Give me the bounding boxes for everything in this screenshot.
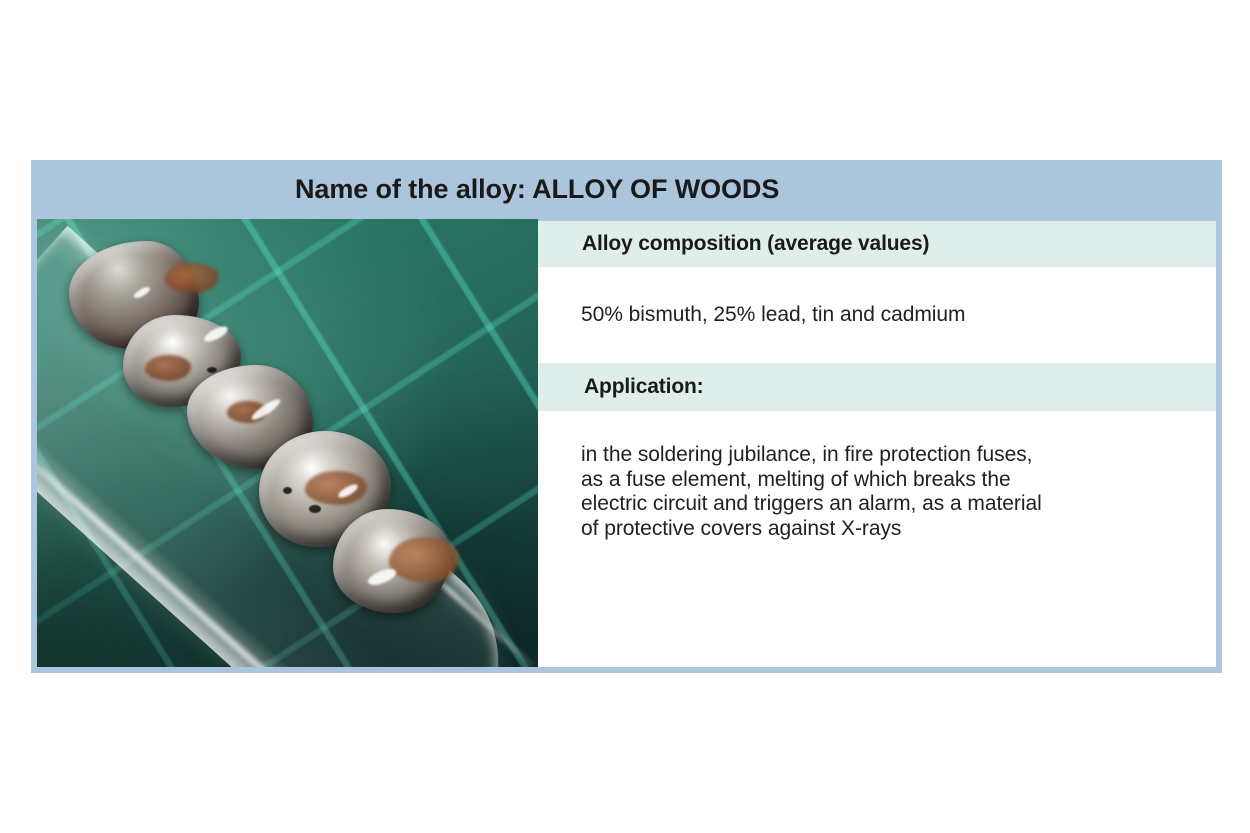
composition-heading: Alloy composition (average values) [538,232,929,256]
card-header: Name of the alloy: ALLOY OF WOODS [31,160,1222,219]
oxidised-patch-3 [305,471,367,505]
dark-cavity-2 [309,505,321,513]
composition-body-band: 50% bismuth, 25% lead, tin and cadmium [538,267,1216,363]
application-body: in the soldering jubilance, in fire prot… [538,411,1042,541]
composition-body: 50% bismuth, 25% lead, tin and cadmium [538,303,965,327]
application-body-line-1: in the soldering jubilance, in fire prot… [581,443,1042,468]
dark-cavity-1 [283,487,292,494]
dark-cavity-3 [207,367,217,373]
info-text-column: Alloy composition (average values) 50% b… [538,219,1216,667]
alloy-info-card: Name of the alloy: ALLOY OF WOODS [31,160,1222,673]
oxidised-patch-1 [165,263,219,293]
application-body-line-4: of protective covers against X-rays [581,517,1042,542]
application-heading-band: Application: [538,363,1216,411]
page-title: Name of the alloy: ALLOY OF WOODS [31,174,779,205]
application-body-line-3: electric circuit and triggers an alarm, … [581,492,1042,517]
application-body-band: in the soldering jubilance, in fire prot… [538,411,1216,667]
application-body-line-2: as a fuse element, melting of which brea… [581,468,1042,493]
card-body: Alloy composition (average values) 50% b… [31,219,1222,673]
application-heading: Application: [538,375,704,399]
sample-photo [37,219,538,667]
photo-canvas [37,219,538,667]
oxidised-patch-2 [145,355,191,381]
oxidised-patch-4 [389,537,459,583]
composition-heading-band: Alloy composition (average values) [538,221,1216,267]
